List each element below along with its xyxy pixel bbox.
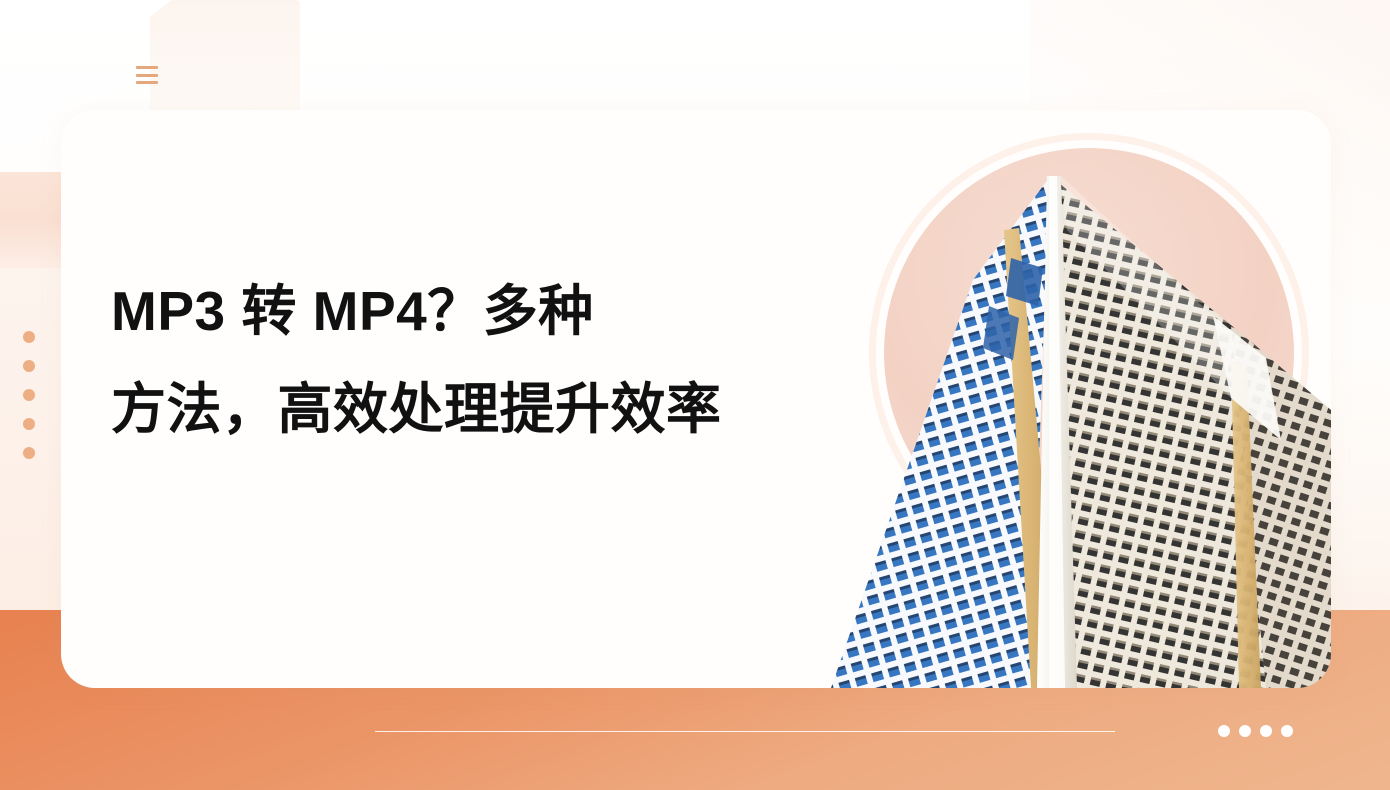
menu-line-3 [136, 81, 158, 84]
footer-divider [375, 731, 1115, 732]
side-dot [23, 418, 35, 430]
artwork-container [761, 110, 1331, 688]
title-line-2: 方法，高效处理提升效率 [111, 360, 811, 458]
left-blush-decoration [0, 172, 62, 268]
pagination-dot[interactable] [1218, 725, 1230, 737]
pagination-dot[interactable] [1281, 725, 1293, 737]
pagination-dot[interactable] [1260, 725, 1272, 737]
menu-line-1 [136, 66, 158, 69]
side-dot [23, 360, 35, 372]
pagination-dot[interactable] [1239, 725, 1251, 737]
hamburger-menu-icon[interactable] [136, 64, 158, 86]
presentation-slide: MP3 转 MP4？多种 方法，高效处理提升效率 [0, 0, 1390, 790]
skyscraper-photo [761, 110, 1331, 688]
side-dot [23, 389, 35, 401]
menu-line-2 [136, 74, 158, 77]
slide-title: MP3 转 MP4？多种 方法，高效处理提升效率 [111, 262, 811, 458]
left-dot-decoration [23, 331, 35, 459]
title-line-1: MP3 转 MP4？多种 [111, 262, 811, 360]
side-dot [23, 447, 35, 459]
side-dot [23, 331, 35, 343]
pagination-dots[interactable] [1218, 725, 1293, 737]
